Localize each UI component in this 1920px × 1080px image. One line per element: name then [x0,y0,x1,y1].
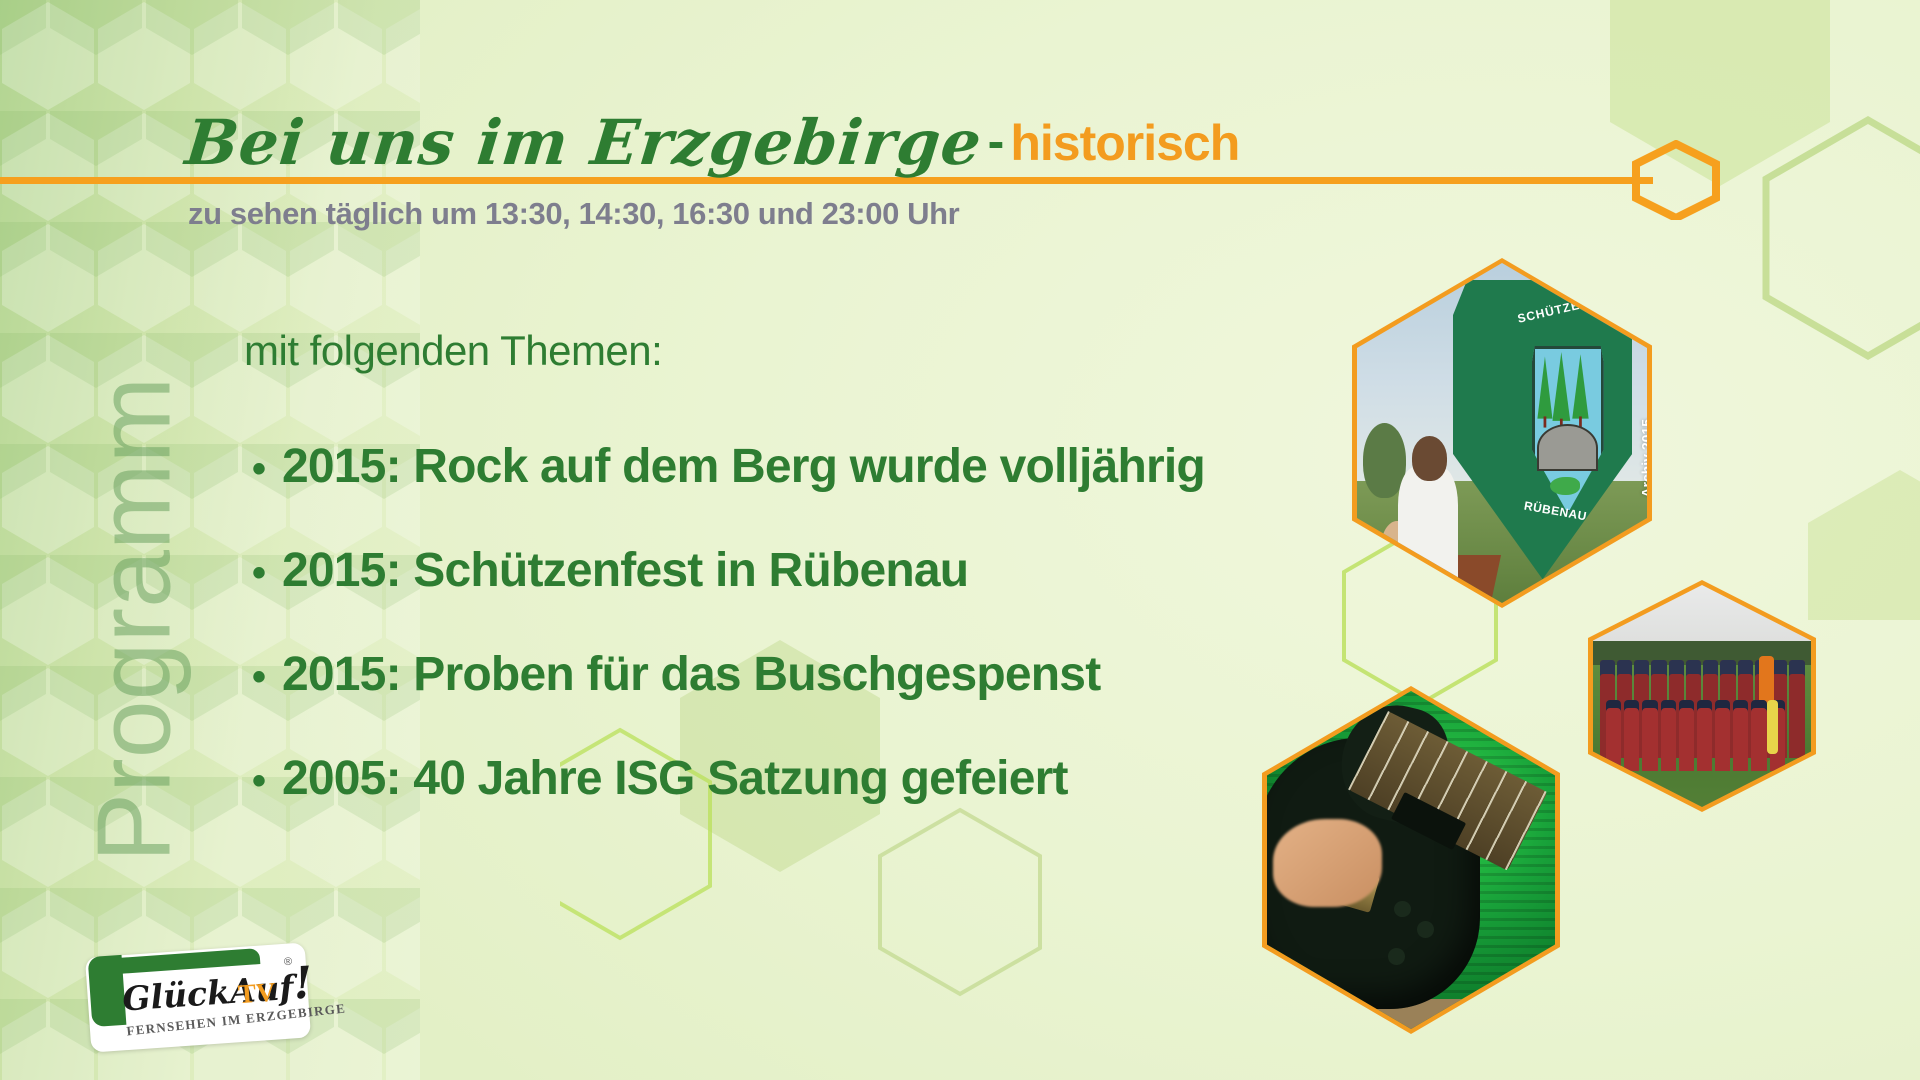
list-item: • 2015: Rock auf dem Berg wurde volljähr… [252,415,1205,519]
photo-schuetzenverein-shield: SCHÜTZENVEREIN RÜBENAU E.V. 1976 Archiv … [1352,258,1652,608]
guitar-photo-art [1267,691,1555,1029]
slide-canvas: Bei uns im Erzgebirge-historisch zu sehe… [0,0,1920,1080]
title-script-text: Bei uns im Erzgebirge [182,106,985,179]
shield-photo-art: SCHÜTZENVEREIN RÜBENAU E.V. 1976 Archiv … [1357,263,1647,603]
rule-end-hexagon [1630,140,1722,220]
list-item-label: 2015: Rock auf dem Berg wurde volljährig [282,415,1205,519]
broadcast-times-subtitle: zu sehen täglich um 13:30, 14:30, 16:30 … [188,196,959,232]
glueckauf-tv-logo: GlückAuf! TV ® FERNSEHEN IM ERZGEBIRGE [88,950,308,1045]
list-item: • 2005: 40 Jahre ISG Satzung gefeiert [252,727,1205,831]
title-dash: - [982,112,1011,170]
photo-team-lineup [1588,580,1816,812]
hex-image-clip [1593,585,1811,807]
emblem-top-text: SCHÜTZENVEREIN [1516,291,1619,364]
topics-intro: mit folgenden Themen: [244,327,662,375]
list-item-label: 2005: 40 Jahre ISG Satzung gefeiert [282,727,1068,831]
bullet-icon: • [252,521,282,625]
topics-list: • 2015: Rock auf dem Berg wurde volljähr… [252,415,1205,831]
logo-tv: TV [237,977,277,1011]
logo-green-bar [88,955,127,1027]
hex-image-clip: SCHÜTZENVEREIN RÜBENAU E.V. 1976 Archiv … [1357,263,1647,603]
bullet-icon: • [252,417,282,521]
list-item-label: 2015: Proben für das Buschgespenst [282,623,1100,727]
logo-registered-mark: ® [284,956,293,969]
list-item-label: 2015: Schützenfest in Rübenau [282,519,968,623]
bullet-icon: • [252,729,282,833]
hex-image-clip [1267,691,1555,1029]
list-item: • 2015: Schützenfest in Rübenau [252,519,1205,623]
page-title: Bei uns im Erzgebirge-historisch [186,106,1239,179]
team-photo-art [1593,585,1811,807]
section-label-programm: Programm [76,240,195,1000]
bullet-icon: • [252,625,282,729]
list-item: • 2015: Proben für das Buschgespenst [252,623,1205,727]
photo-electric-guitar [1262,686,1560,1034]
logo-exclamation: ! [292,957,315,1009]
archive-watermark: Archiv 2015 [1638,419,1647,498]
title-accent-text: historisch [1010,114,1239,172]
